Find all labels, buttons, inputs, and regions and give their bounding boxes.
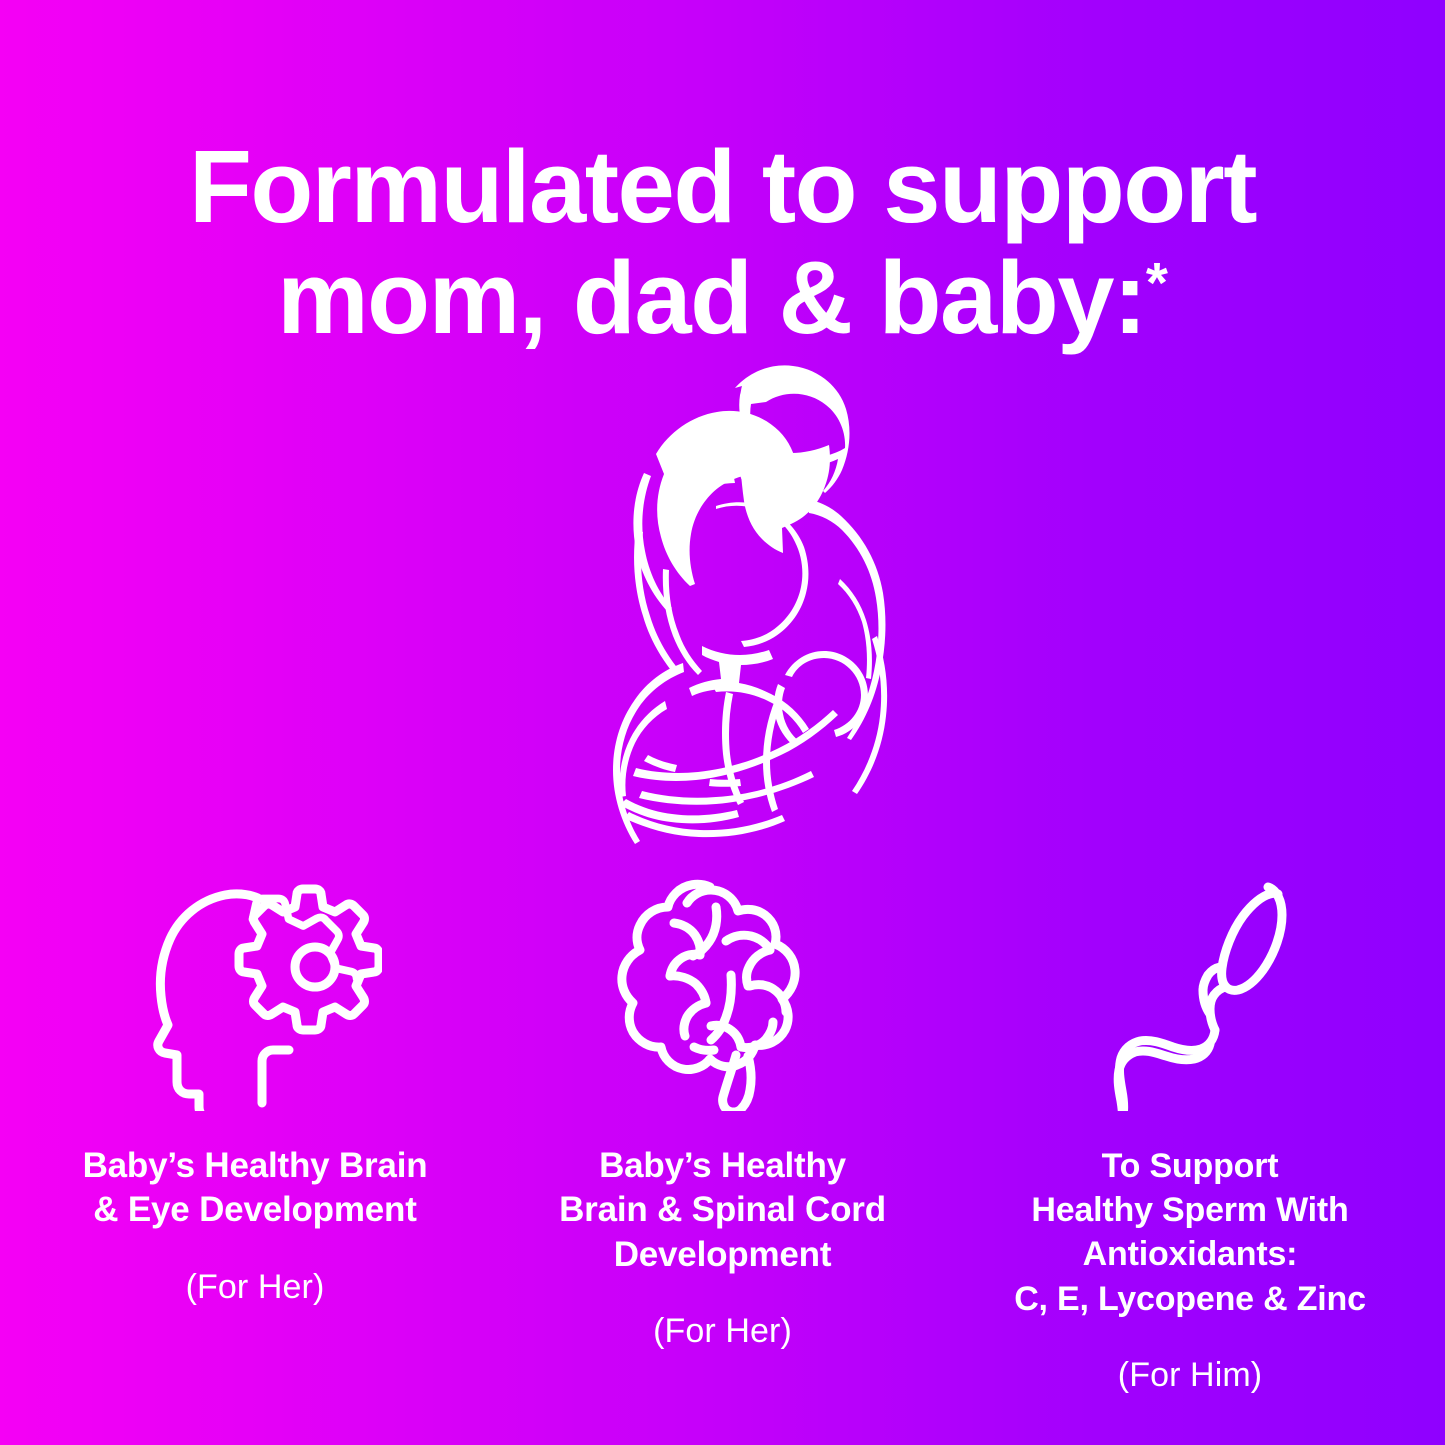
sperm-icon (1068, 862, 1318, 1120)
headline-line-1: Formulated to support (0, 131, 1445, 242)
infographic-poster: Formulated to support mom, dad & baby:* (0, 0, 1445, 1445)
brain-icon (598, 862, 848, 1120)
benefit-column-3: To Support Healthy Sperm With Antioxidan… (957, 862, 1423, 1396)
footnote-asterisk: * (1146, 252, 1168, 315)
benefit-audience-3: (For Him) (1118, 1355, 1262, 1396)
benefit-column-2: Baby’s Healthy Brain & Spinal Cord Devel… (490, 862, 956, 1352)
benefit-audience-1: (For Her) (186, 1267, 325, 1308)
head-gear-icon (132, 862, 382, 1120)
page-title: Formulated to support mom, dad & baby:* (0, 131, 1445, 353)
benefit-title-2: Baby’s Healthy Brain & Spinal Cord Devel… (559, 1144, 886, 1277)
benefits-row: Baby’s Healthy Brain & Eye Development (… (0, 862, 1445, 1442)
benefit-title-3: To Support Healthy Sperm With Antioxidan… (1014, 1144, 1366, 1321)
benefit-column-1: Baby’s Healthy Brain & Eye Development (… (22, 862, 488, 1308)
benefit-audience-2: (For Her) (653, 1311, 792, 1352)
benefit-title-1: Baby’s Healthy Brain & Eye Development (83, 1144, 428, 1233)
family-illustration (488, 336, 958, 846)
